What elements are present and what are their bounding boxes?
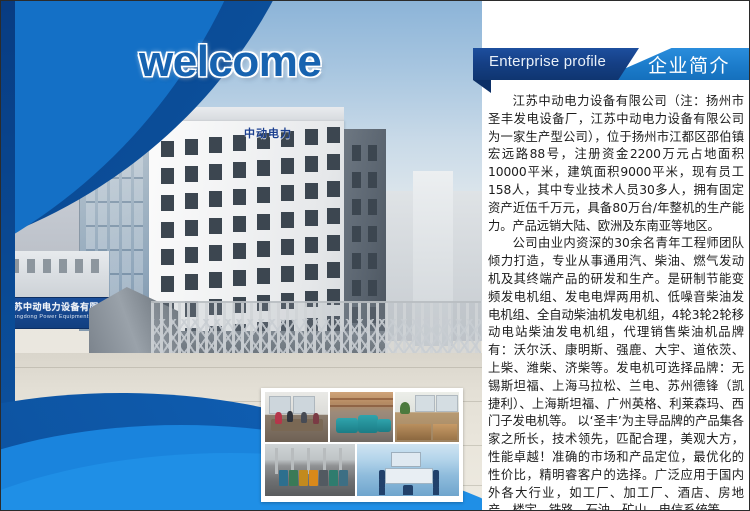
photo-conference-room (357, 444, 459, 496)
company-profile-page: 中动电力 江苏中动电力设备有限公司 Zhongdong Power Equipm… (0, 0, 750, 511)
photo-warehouse-generator-row (265, 444, 355, 496)
left-visual-panel: 中动电力 江苏中动电力设备有限公司 Zhongdong Power Equipm… (1, 1, 482, 510)
gate-lattice (151, 319, 481, 355)
photo-office-meeting-room (265, 392, 328, 442)
photo-office-reception (395, 392, 459, 442)
welcome-headline: welcome (139, 37, 321, 87)
photo-collage (261, 388, 463, 502)
company-profile-body: 江苏中动电力设备有限公司（注：扬州市圣丰发电设备厂，江苏中动电力设备有限公司为一… (488, 93, 744, 511)
profile-paragraph-1: 江苏中动电力设备有限公司（注：扬州市圣丰发电设备厂，江苏中动电力设备有限公司为一… (488, 93, 744, 235)
entrance-wall (1, 251, 109, 299)
photo-factory-generator-sets (330, 392, 393, 442)
banner-chinese-title: 企业简介 (648, 51, 730, 78)
building-sign-text: 中动电力 (232, 127, 304, 141)
enterprise-profile-banner: Enterprise profile 企业简介 (473, 48, 750, 80)
banner-english-title: Enterprise profile (489, 53, 606, 70)
profile-text-panel: Enterprise profile 企业简介 江苏中动电力设备有限公司（注：扬… (482, 1, 750, 510)
profile-paragraph-2: 公司由业内资深的30余名青年工程师团队倾力打造，专业从事通用汽、柴油、燃气发动机… (488, 235, 744, 511)
